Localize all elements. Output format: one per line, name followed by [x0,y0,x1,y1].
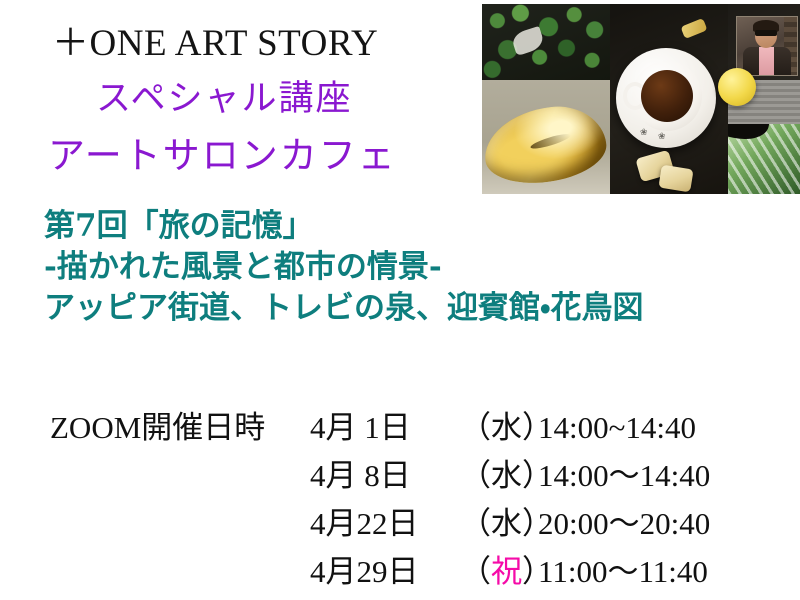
lemon-photo [718,68,756,106]
schedule-time: 14:00〜14:40 [538,450,710,495]
topic-line-3: アッピア街道、トレビの泉、迎賓館・花鳥図 [44,288,644,329]
dow-text: 水 [491,410,522,445]
topic-line-1: 第7回「旅の記憶」 [44,206,644,247]
schedule-row: 4月 8日 （水） 14:00〜14:40 [0,450,800,498]
paren-open: （ [460,458,491,493]
presentation-slide: ❀ ❀ ＋ONE ART STORY スペシャル講座 アートサロンカフェ 第7回… [0,0,800,600]
schedule-time: 14:00~14:40 [538,410,696,446]
cup-handle-shape [623,82,647,110]
schedule-block: ZOOM開催日時 4月 1日 （水） 14:00~14:40 4月 8日 （水）… [0,402,800,594]
schedule-day-of-week: （水） [460,450,538,495]
dow-text: 水 [491,506,522,541]
schedule-date: 4月29日 [310,546,460,591]
topic-line-2: -描かれた風景と都市の情景- [44,247,644,288]
schedule-day-of-week: （水） [460,402,538,447]
paren-open: （ [460,410,491,445]
dow-text: 水 [491,458,522,493]
presenter-portrait-photo [736,16,798,76]
leaves-photo [482,4,610,80]
schedule-day-of-week: （水） [460,498,538,543]
schedule-time: 20:00〜20:40 [538,498,710,543]
brand-title: ＋ONE ART STORY [52,12,378,66]
gold-sculpture-shape [482,101,610,189]
coffee-cup-photo: ❀ ❀ [610,4,728,194]
schedule-time: 11:00〜11:40 [538,546,708,591]
paren-open: （ [460,554,491,589]
schedule-row: 4月29日 （祝） 11:00〜11:40 [0,546,800,594]
schedule-row: 4月22日 （水） 20:00〜20:40 [0,498,800,546]
schedule-day-of-week-holiday: （祝） [460,546,538,591]
biscuit-shape [658,165,693,193]
flower-motif-icon: ❀ [640,128,648,137]
course-subtitle: スペシャル講座 [96,70,353,121]
topic-block: 第7回「旅の記憶」 -描かれた風景と都市の情景- アッピア街道、トレビの泉、迎賓… [44,206,644,329]
paren-open: （ [460,506,491,541]
green-leaf-photo [728,124,800,194]
schedule-date: 4月 1日 [310,402,460,447]
series-title: アートサロンカフェ [48,125,397,179]
photo-collage: ❀ ❀ [482,4,800,194]
gold-sculpture-photo [482,80,610,194]
cookie-crumb-shape [680,18,707,39]
coffee-liquid-shape [641,70,693,122]
schedule-date: 4月22日 [310,498,460,543]
dow-text: 祝 [491,554,522,589]
shirt-shape [759,47,774,75]
schedule-row: ZOOM開催日時 4月 1日 （水） 14:00~14:40 [0,402,800,450]
flower-motif-icon: ❀ [658,132,666,141]
schedule-label: ZOOM開催日時 [0,402,310,447]
sunglasses-icon [755,30,777,36]
schedule-date: 4月 8日 [310,450,460,495]
